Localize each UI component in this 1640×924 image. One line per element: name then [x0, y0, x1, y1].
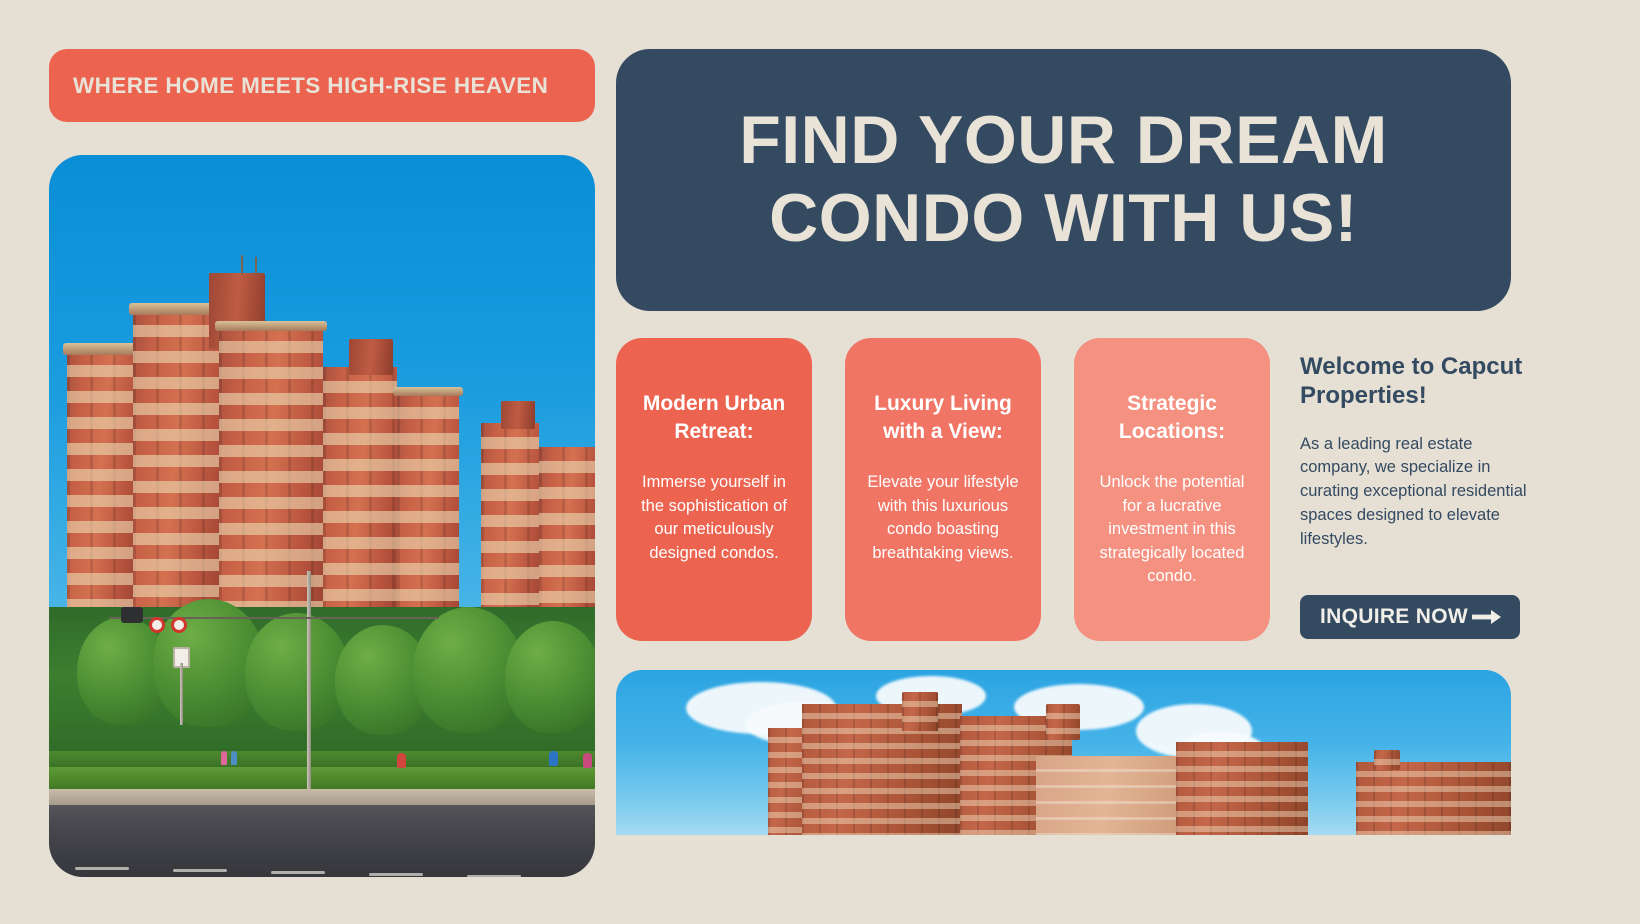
- hero-speed-limit-sign: [149, 617, 165, 633]
- hero-lane-marking: [271, 871, 325, 874]
- hero-cornice-main-b: [215, 321, 327, 331]
- hero-lane-marking: [467, 875, 521, 877]
- feature-card-title: Luxury Living with a View:: [859, 390, 1027, 445]
- headline-panel: FIND YOUR DREAM CONDO WITH US!: [616, 49, 1511, 311]
- left-column: WHERE HOME MEETS HIGH-RISE HEAVEN: [49, 49, 595, 877]
- hero-scooter: [549, 751, 558, 766]
- hero-cornice-right-a: [393, 387, 463, 396]
- bottom-building-tan-cap: [1176, 742, 1308, 835]
- hero-pedestrian: [231, 751, 237, 765]
- bottom-building-main: [802, 704, 962, 835]
- hero-lane-marking: [75, 867, 129, 870]
- tagline-banner: WHERE HOME MEETS HIGH-RISE HEAVEN: [49, 49, 595, 122]
- feature-card-body: Unlock the potential for a lucrative inv…: [1088, 471, 1256, 588]
- hero-antenna-b: [255, 257, 257, 275]
- bottom-building-far-right-tower: [1374, 750, 1400, 770]
- hero-lane-marking: [173, 869, 227, 872]
- inquire-now-label: INQUIRE NOW: [1320, 605, 1468, 629]
- hero-lamp-post: [307, 571, 311, 797]
- hero-sign-post: [180, 663, 183, 725]
- hero-scooter: [397, 753, 406, 768]
- bottom-building-far-right: [1356, 762, 1511, 835]
- hero-antenna-a: [241, 255, 243, 275]
- inquire-now-button[interactable]: INQUIRE NOW: [1300, 595, 1520, 639]
- feature-card-title: Strategic Locations:: [1088, 390, 1256, 445]
- feature-card-body: Elevate your lifestyle with this luxurio…: [859, 471, 1027, 565]
- feature-card-strategic-locations[interactable]: Strategic Locations: Unlock the potentia…: [1074, 338, 1270, 641]
- headline-line-2: CONDO WITH US!: [769, 180, 1358, 258]
- hero-lane-marking: [369, 873, 423, 876]
- bottom-building-right-tower: [1046, 704, 1080, 740]
- bottom-building-main-tower: [902, 692, 938, 732]
- hero-pedestrian: [221, 751, 227, 765]
- feature-card-modern-urban-retreat[interactable]: Modern Urban Retreat: Immerse yourself i…: [616, 338, 812, 641]
- hero-tower-cap-c: [501, 401, 535, 429]
- hero-no-entry-sign: [171, 617, 187, 633]
- poster-canvas: WHERE HOME MEETS HIGH-RISE HEAVEN: [0, 0, 1640, 924]
- headline-line-1: FIND YOUR DREAM: [739, 102, 1388, 180]
- hero-tree: [505, 621, 595, 733]
- tagline-text: WHERE HOME MEETS HIGH-RISE HEAVEN: [73, 73, 548, 99]
- hero-traffic-light: [121, 607, 143, 623]
- welcome-title: Welcome to Capcut Properties!: [1300, 352, 1530, 411]
- hero-tower-cap-b: [349, 339, 393, 375]
- hero-tree: [245, 613, 349, 731]
- hero-cornice-left: [63, 343, 137, 355]
- hero-photo: [49, 155, 595, 877]
- hero-road: [49, 805, 595, 877]
- welcome-block: Welcome to Capcut Properties! As a leadi…: [1300, 352, 1530, 551]
- hero-scooter: [583, 753, 592, 768]
- feature-card-luxury-living-with-a-view[interactable]: Luxury Living with a View: Elevate your …: [845, 338, 1041, 641]
- welcome-body: As a leading real estate company, we spe…: [1300, 433, 1530, 552]
- feature-card-body: Immerse yourself in the sophistication o…: [630, 471, 798, 565]
- feature-card-title: Modern Urban Retreat:: [630, 390, 798, 445]
- bottom-photo: [616, 670, 1511, 835]
- arrow-right-icon: [1472, 609, 1502, 625]
